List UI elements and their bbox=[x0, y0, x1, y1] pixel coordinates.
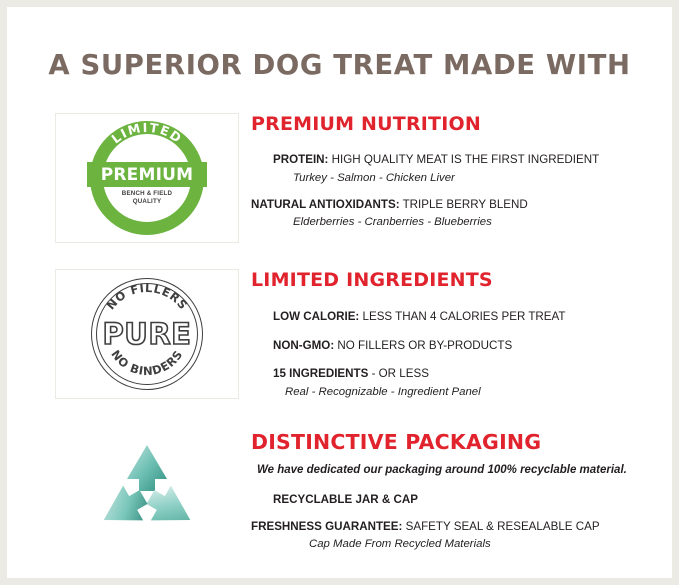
badge-container-recycle bbox=[55, 430, 239, 560]
fact-line: NATURAL ANTIOXIDANTS: TRIPLE BERRY BLEND bbox=[251, 197, 645, 213]
section-title-packaging: DISTINCTIVE PACKAGING bbox=[251, 430, 645, 454]
fact-line: FRESHNESS GUARANTEE: SAFETY SEAL & RESEA… bbox=[251, 519, 645, 535]
fact-line: LOW CALORIE: LESS THAN 4 CALORIES PER TR… bbox=[273, 309, 645, 325]
section-body-limited: LIMITED INGREDIENTS LOW CALORIE: LESS TH… bbox=[251, 269, 645, 411]
svg-text:NO BINDERS: NO BINDERS bbox=[108, 347, 185, 378]
fact-subline: Cap Made From Recycled Materials bbox=[309, 538, 645, 550]
packaging-intro-text: We have dedicated our packaging around 1… bbox=[257, 464, 645, 476]
fact-value: HIGH QUALITY MEAT IS THE FIRST INGREDIEN… bbox=[328, 153, 599, 166]
section-title-premium: PREMIUM NUTRITION bbox=[251, 113, 645, 135]
seal-arc-bottom-label: NO BINDERS bbox=[108, 347, 185, 378]
fact-value: NO FILLERS OR BY-PRODUCTS bbox=[334, 339, 512, 352]
page-title: A SUPERIOR DOG TREAT MADE WITH bbox=[7, 49, 672, 81]
seal-arc-top-label: NO FILLERS bbox=[104, 281, 191, 313]
svg-text:NO FILLERS: NO FILLERS bbox=[104, 281, 191, 313]
fact-subline: Real - Recognizable - Ingredient Panel bbox=[285, 386, 645, 398]
recycle-arrow-top bbox=[127, 445, 167, 491]
seal-banner: PREMIUM bbox=[87, 162, 207, 187]
pure-no-fillers-no-binders-seal: NO FILLERS NO BINDERS PURE bbox=[91, 278, 203, 390]
fact-value: TRIPLE BERRY BLEND bbox=[400, 198, 528, 211]
fact-label: FRESHNESS GUARANTEE: bbox=[251, 520, 402, 533]
fact-value: SAFETY SEAL & RESEALABLE CAP bbox=[402, 520, 599, 533]
infographic-canvas: A SUPERIOR DOG TREAT MADE WITH LIMITED bbox=[7, 7, 672, 578]
fact-label: RECYCLABLE JAR & CAP bbox=[273, 493, 418, 506]
badge-container-pure: NO FILLERS NO BINDERS PURE bbox=[55, 269, 239, 399]
fact-label: PROTEIN: bbox=[273, 153, 328, 166]
seal-subtext-line2: QUALITY bbox=[90, 198, 204, 206]
section-title-limited: LIMITED INGREDIENTS bbox=[251, 269, 645, 291]
fact-line: RECYCLABLE JAR & CAP bbox=[273, 492, 645, 508]
seal-arc-top-label: LIMITED bbox=[109, 121, 186, 146]
fact-label: 15 INGREDIENTS bbox=[273, 367, 368, 380]
fact-subline: Turkey - Salmon - Chicken Liver bbox=[293, 172, 645, 184]
fact-line: NON-GMO: NO FILLERS OR BY-PRODUCTS bbox=[273, 338, 645, 354]
recycle-symbol-icon bbox=[87, 439, 207, 551]
seal-word-premium: PREMIUM bbox=[101, 165, 194, 185]
section-body-premium: PREMIUM NUTRITION PROTEIN: HIGH QUALITY … bbox=[251, 113, 645, 241]
fact-line: PROTEIN: HIGH QUALITY MEAT IS THE FIRST … bbox=[273, 152, 645, 168]
fact-line: 15 INGREDIENTS - OR LESS bbox=[273, 366, 645, 382]
badge-container-premium: LIMITED INGREDIENTS PREMIUM BENCH & FIEL… bbox=[55, 113, 239, 243]
fact-label: LOW CALORIE: bbox=[273, 310, 359, 323]
fact-label: NON-GMO: bbox=[273, 339, 334, 352]
fact-value: - OR LESS bbox=[368, 367, 429, 380]
fact-label: NATURAL ANTIOXIDANTS: bbox=[251, 198, 400, 211]
section-body-packaging: DISTINCTIVE PACKAGING We have dedicated … bbox=[251, 430, 645, 563]
seal-word-pure: PURE bbox=[91, 317, 203, 351]
fact-subline: Elderberries - Cranberries - Blueberries bbox=[293, 216, 645, 228]
svg-text:LIMITED: LIMITED bbox=[109, 121, 186, 146]
fact-value: LESS THAN 4 CALORIES PER TREAT bbox=[359, 310, 565, 323]
seal-subtext: BENCH & FIELD QUALITY bbox=[90, 190, 204, 207]
infographic-page: A SUPERIOR DOG TREAT MADE WITH LIMITED bbox=[0, 0, 679, 585]
premium-limited-ingredients-seal: LIMITED INGREDIENTS PREMIUM BENCH & FIEL… bbox=[90, 121, 204, 235]
seal-subtext-line1: BENCH & FIELD bbox=[90, 190, 204, 198]
